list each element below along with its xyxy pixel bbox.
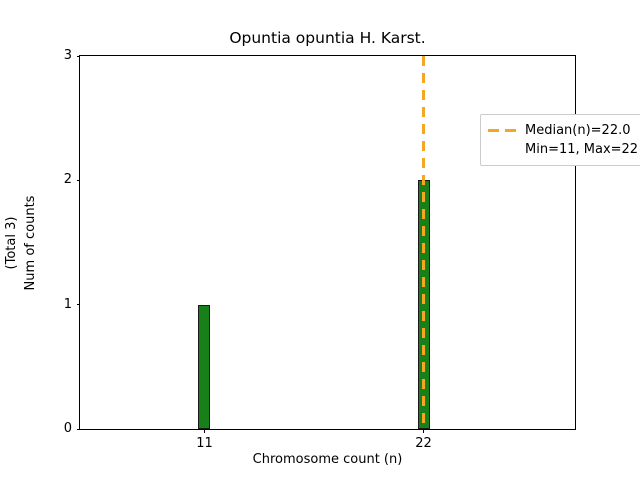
legend-label-median: Median(n)=22.0: [525, 121, 638, 140]
x-axis-label: Chromosome count (n): [79, 452, 576, 468]
figure-canvas: Opuntia opuntia H. Karst. (Total 3) Num …: [0, 0, 640, 480]
y-axis-label-container: (Total 3) Num of counts: [0, 55, 42, 430]
x-tick-mark: [423, 429, 424, 433]
y-tick-mark: [77, 429, 81, 430]
y-tick-label: 0: [64, 420, 72, 438]
plot-area: 0 1 2 3 11 22: [79, 55, 576, 430]
page-title: Opuntia opuntia H. Karst.: [79, 29, 576, 47]
y-tick-mark: [77, 304, 81, 305]
y-tick-mark: [77, 56, 81, 57]
legend-label-minmax: Min=11, Max=22: [525, 140, 638, 159]
x-tick-label: 11: [174, 435, 234, 452]
y-tick-mark: [77, 180, 81, 181]
y-tick-label: 1: [64, 296, 72, 314]
y-axis-label-line2: (Total 3): [2, 195, 21, 290]
median-line: [422, 56, 425, 429]
y-axis-label-line1: Num of counts: [23, 195, 38, 290]
y-axis-label: (Total 3) Num of counts: [2, 195, 40, 290]
bar-11: [198, 305, 210, 429]
legend-dash-segment: [505, 129, 516, 132]
x-tick-label: 22: [394, 435, 454, 452]
legend-dash-segment: [488, 129, 499, 132]
y-tick-label: 3: [64, 47, 72, 65]
legend-dashed-line-icon: [488, 121, 518, 139]
legend-entry-text: Median(n)=22.0 Min=11, Max=22: [525, 121, 638, 159]
y-tick-label: 2: [64, 171, 72, 189]
x-tick-mark: [204, 429, 205, 433]
legend: Median(n)=22.0 Min=11, Max=22: [480, 114, 640, 166]
